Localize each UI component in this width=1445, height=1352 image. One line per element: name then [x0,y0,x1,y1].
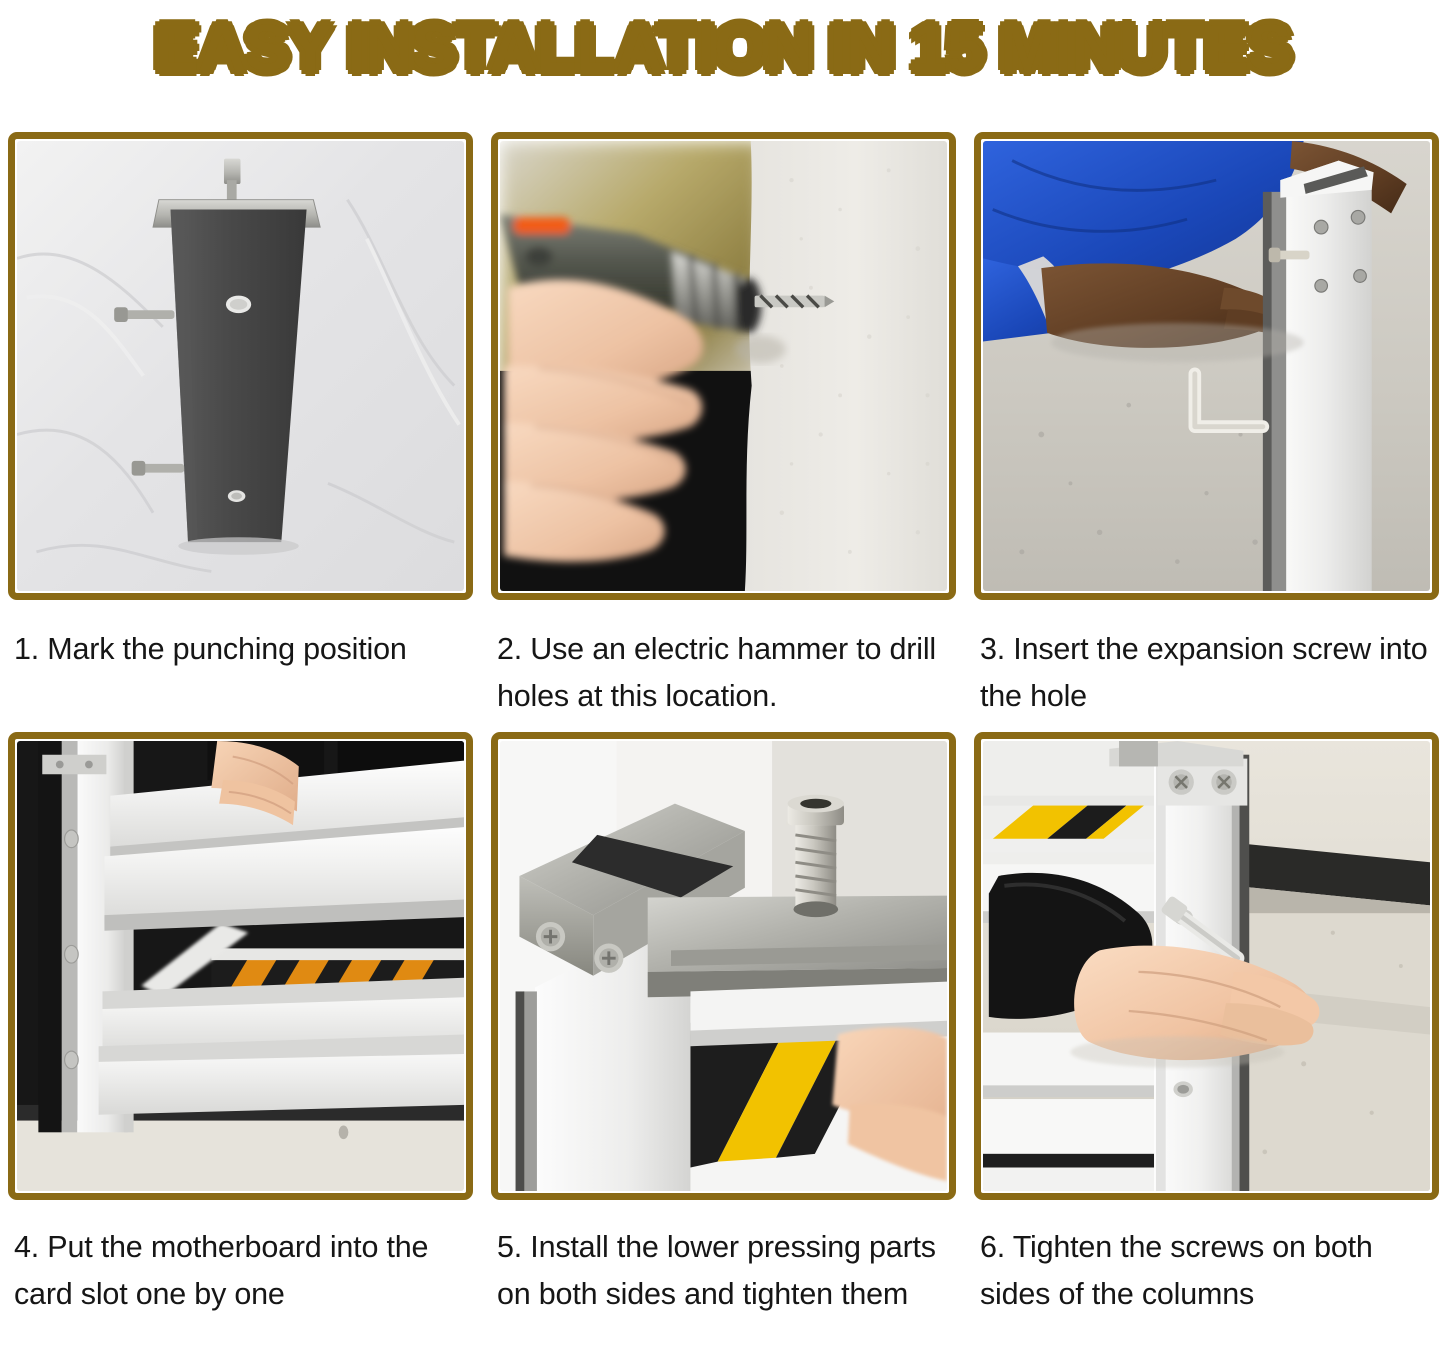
photo-insert-expansion-screw [974,132,1439,600]
photo-insert-boards-into-slot [8,732,473,1200]
step-caption-6: 6. Tighten the screws on both sides of t… [974,1224,1439,1318]
photo-install-pressing-parts [491,732,956,1200]
step-caption-5: 5. Install the lower pressing parts on b… [491,1224,956,1318]
photo-mark-punching-position [8,132,473,600]
step-card-1: 1. Mark the punching position [8,132,473,720]
page-title-bar: EASY INSTALLATION IN 15 MINUTES [0,0,1445,96]
step-caption-3: 3. Insert the expansion screw into the h… [974,626,1439,720]
steps-row-bottom: 4. Put the motherboard into the card slo… [8,732,1440,1318]
step-card-3: 3. Insert the expansion screw into the h… [974,132,1439,720]
step-card-2: 2. Use an electric hammer to drill holes… [491,132,956,720]
step-card-5: 5. Install the lower pressing parts on b… [491,732,956,1318]
step-caption-2: 2. Use an electric hammer to drill holes… [491,626,956,720]
photo-tighten-column-screws [974,732,1439,1200]
step-caption-1: 1. Mark the punching position [8,626,473,673]
step-card-4: 4. Put the motherboard into the card slo… [8,732,473,1318]
photo-drill-holes [491,132,956,600]
page-title: EASY INSTALLATION IN 15 MINUTES [154,13,1290,83]
steps-row-top: 1. Mark the punching position [8,132,1440,720]
installation-guide-page: EASY INSTALLATION IN 15 MINUTES [0,0,1445,1352]
step-card-6: 6. Tighten the screws on both sides of t… [974,732,1439,1318]
steps-grid: 1. Mark the punching position [8,132,1440,1330]
step-caption-4: 4. Put the motherboard into the card slo… [8,1224,473,1318]
